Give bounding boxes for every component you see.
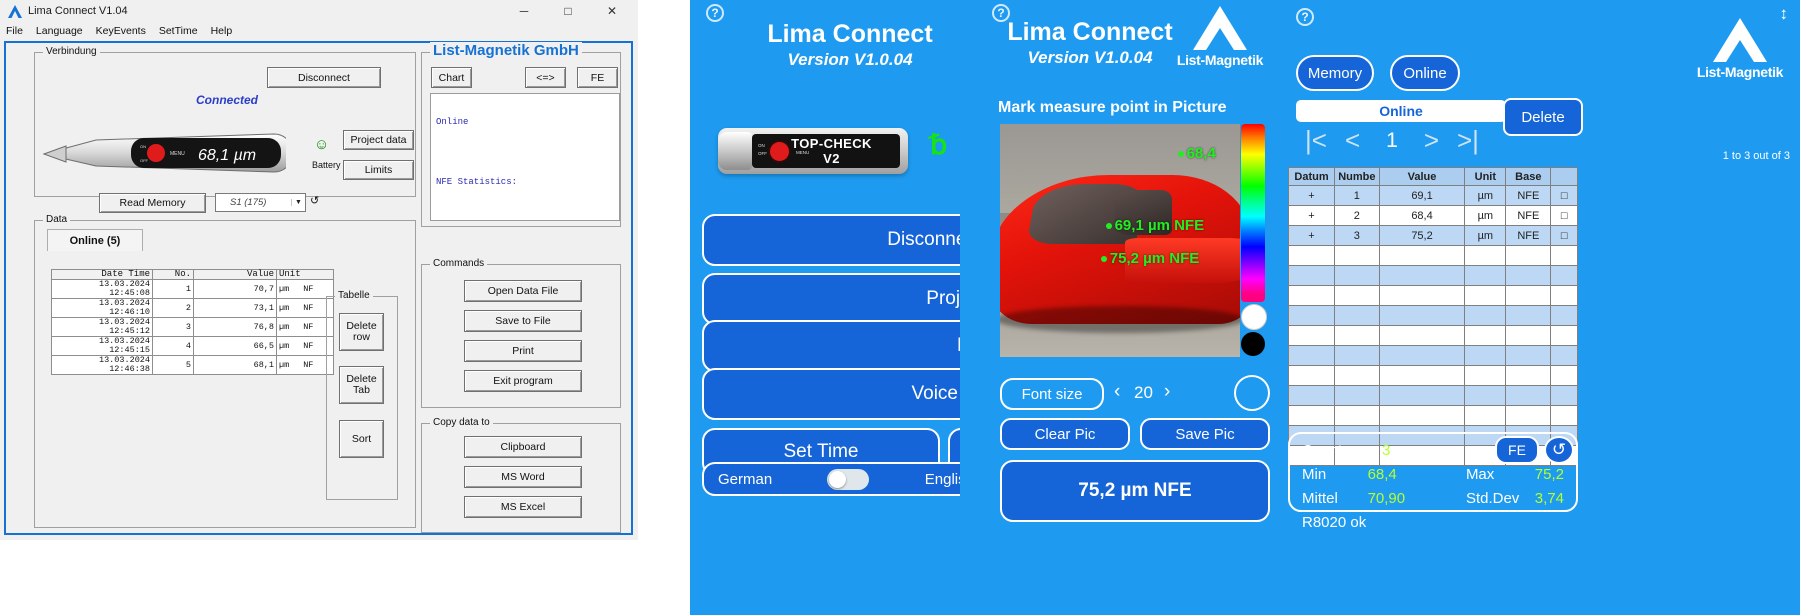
- save-to-file-button[interactable]: Save to File: [464, 310, 582, 332]
- open-data-file-button[interactable]: Open Data File: [464, 280, 582, 302]
- table-row[interactable]: 13.03.2024 12:46:38 5 68,1 µmNF: [52, 356, 334, 375]
- mark-dot-icon: [1178, 151, 1184, 157]
- swap-button[interactable]: <=>: [525, 67, 566, 88]
- chevron-down-icon: ▼: [291, 199, 305, 206]
- fe-button[interactable]: FE: [577, 67, 618, 88]
- std-label: Std.Dev: [1466, 490, 1535, 507]
- count-label: Count: [1302, 442, 1382, 459]
- table-row[interactable]: 13.03.2024 12:45:12 3 76,8 µmNF: [52, 318, 334, 337]
- max-label: Max: [1466, 466, 1535, 483]
- col-base: Base: [1506, 168, 1551, 186]
- device-status: R8020 ok: [1302, 514, 1564, 531]
- cell-value: 76,8: [194, 318, 277, 337]
- menu-keyevents[interactable]: KeyEvents: [96, 25, 146, 37]
- cell-base: NFE: [1506, 186, 1551, 206]
- cell-datum: +: [1289, 186, 1335, 206]
- cell-datum: +: [1289, 226, 1335, 246]
- mean-value: 70,90: [1368, 490, 1466, 507]
- clipboard-button[interactable]: Clipboard: [464, 436, 582, 458]
- table-row-empty[interactable]: [1289, 346, 1578, 366]
- table-row[interactable]: + 1 69,1 µm NFE □: [1289, 186, 1578, 206]
- stats-mode: Online: [436, 117, 614, 127]
- refresh-memory-icon[interactable]: ↺: [310, 194, 319, 207]
- min-value: 68,4: [1368, 466, 1466, 483]
- table-row[interactable]: 13.03.2024 12:46:10 2 73,1 µmNF: [52, 299, 334, 318]
- refresh-icon[interactable]: ↺: [1544, 436, 1574, 464]
- cell-unit: µmNF: [277, 318, 334, 337]
- window-controls: ─ □ ✕: [502, 0, 634, 22]
- data-group-legend: Data: [43, 214, 70, 225]
- read-memory-button[interactable]: Read Memory: [99, 193, 206, 213]
- col-unit: Unit: [277, 270, 334, 280]
- measurement-table-body: 13.03.2024 12:45:08 1 70,7 µmNF 13.03.20…: [52, 280, 334, 375]
- lang-german-label: German: [718, 471, 772, 488]
- font-size-value: 20: [1134, 383, 1153, 403]
- svg-text:MENU: MENU: [170, 151, 185, 157]
- window-titlebar: Lima Connect V1.04 ─ □ ✕: [0, 0, 638, 22]
- measurement-table: Date Time No. Value Unit 13.03.2024 12:4…: [51, 269, 334, 375]
- brand-logo: List-Magnetik: [1680, 18, 1800, 80]
- cell-base: NFE: [1506, 226, 1551, 246]
- cell-unit: µmNF: [277, 299, 334, 318]
- mark-dot-icon: [1101, 256, 1107, 262]
- color-preview-circle[interactable]: [1234, 375, 1270, 411]
- photo-mark: 69,1 µm NFE: [1106, 217, 1205, 234]
- cell-base: NFE: [1506, 206, 1551, 226]
- cell-datetime: 13.03.2024 12:46:10: [52, 299, 153, 318]
- menu-language[interactable]: Language: [36, 25, 83, 37]
- device-menu-label: MENU: [796, 150, 809, 155]
- section-title: Mark measure point in Picture: [998, 99, 1227, 117]
- commands-group-legend: Commands: [430, 258, 487, 269]
- col-value: Value: [194, 270, 277, 280]
- tab-online[interactable]: Online (5): [47, 229, 143, 251]
- table-row-empty[interactable]: [1289, 246, 1578, 266]
- company-group-legend: List-Magnetik GmbH: [430, 42, 582, 59]
- brand-logo: List-Magnetik: [1155, 6, 1285, 68]
- range-label: 1 to 3 out of 3: [1723, 150, 1790, 162]
- col-value: Value: [1379, 168, 1465, 186]
- close-button[interactable]: ✕: [590, 0, 634, 22]
- menu-help[interactable]: Help: [211, 25, 233, 37]
- table-row[interactable]: 13.03.2024 12:45:15 4 66,5 µmNF: [52, 337, 334, 356]
- clear-pic-button[interactable]: Clear Pic: [1000, 418, 1130, 450]
- connection-status: Connected: [196, 93, 258, 107]
- max-value: 75,2: [1535, 466, 1564, 483]
- table-row-empty[interactable]: [1289, 266, 1578, 286]
- cell-flag[interactable]: □: [1551, 206, 1578, 226]
- mode-bar-online: Online: [1296, 100, 1506, 122]
- mean-label: Mittel: [1302, 490, 1368, 507]
- chart-button[interactable]: Chart: [431, 67, 472, 88]
- menubar: File Language KeyEvents SetTime Help: [0, 22, 638, 39]
- cell-no: 1: [153, 280, 194, 299]
- connection-group-legend: Verbindung: [43, 46, 100, 57]
- exit-program-button[interactable]: Exit program: [464, 370, 582, 392]
- probe-illustration: ON OFF MENU 68,1 µm: [36, 120, 286, 180]
- ms-word-button[interactable]: MS Word: [464, 466, 582, 488]
- table-header-row: Datum Numbe Value Unit Base: [1289, 168, 1578, 186]
- cell-number: 2: [1335, 206, 1380, 226]
- stats-title: NFE Statistics:: [436, 177, 614, 187]
- brand-name: List-Magnetik: [1680, 64, 1800, 80]
- photo-mark: 68,4: [1178, 145, 1216, 162]
- cell-value: 68,1: [194, 356, 277, 375]
- cell-value: 73,1: [194, 299, 277, 318]
- device-cap: [718, 132, 752, 170]
- cell-value: 66,5: [194, 337, 277, 356]
- cell-flag[interactable]: □: [1551, 226, 1578, 246]
- svg-text:OFF: OFF: [140, 158, 149, 163]
- help-icon[interactable]: ?: [1296, 8, 1314, 26]
- chevron-left-icon[interactable]: ‹: [1114, 381, 1120, 403]
- col-datum: Datum: [1289, 168, 1335, 186]
- col-flag: [1551, 168, 1578, 186]
- cell-no: 3: [153, 318, 194, 337]
- delete-button[interactable]: Delete: [1503, 98, 1583, 136]
- fe-button[interactable]: FE: [1495, 436, 1539, 464]
- cell-value: 75,2: [1379, 226, 1465, 246]
- prev-page-icon[interactable]: <: [1345, 125, 1360, 156]
- current-reading-display: 75,2 µm NFE: [1000, 460, 1270, 522]
- memory-select[interactable]: S1 (175) ▼: [215, 193, 306, 212]
- first-page-icon[interactable]: |<: [1305, 125, 1327, 156]
- language-switch[interactable]: [827, 469, 869, 490]
- cell-datetime: 13.03.2024 12:46:38: [52, 356, 153, 375]
- cell-datetime: 13.03.2024 12:45:08: [52, 280, 153, 299]
- cell-datum: +: [1289, 206, 1335, 226]
- count-value: 3: [1382, 442, 1390, 459]
- table-row[interactable]: + 2 68,4 µm NFE □: [1289, 206, 1578, 226]
- maximize-button[interactable]: □: [546, 0, 590, 22]
- table-row-empty[interactable]: [1289, 386, 1578, 406]
- menu-file[interactable]: File: [6, 25, 23, 37]
- menu-settime[interactable]: SetTime: [159, 25, 198, 37]
- cell-value: 69,1: [1379, 186, 1465, 206]
- battery-label: Battery: [312, 160, 341, 170]
- chevron-right-icon[interactable]: ›: [1164, 381, 1170, 403]
- last-page-icon[interactable]: >|: [1457, 125, 1479, 156]
- cell-flag[interactable]: □: [1551, 186, 1578, 206]
- cell-number: 3: [1335, 226, 1380, 246]
- col-no: No.: [153, 270, 194, 280]
- device-onoff-label: ONOFF: [758, 142, 767, 158]
- cell-value: 68,4: [1379, 206, 1465, 226]
- measurement-photo[interactable]: 69,1 µm NFE 75,2 µm NFE 68,4: [1000, 124, 1240, 357]
- device-illustration: ONOFF MENU TOP-CHECK V2: [718, 128, 908, 174]
- cell-no: 5: [153, 356, 194, 375]
- table-row[interactable]: 13.03.2024 12:45:08 1 70,7 µmNF: [52, 280, 334, 299]
- app-logo-icon: [8, 5, 22, 18]
- limits-button[interactable]: Limits: [343, 160, 414, 180]
- copy-data-legend: Copy data to: [430, 417, 493, 428]
- mark-dot-icon: [1106, 223, 1112, 229]
- delete-row-button[interactable]: Delete row: [339, 313, 384, 351]
- app-version: Version V1.0.04: [710, 50, 990, 70]
- statistics-readout: Online NFE Statistics: Count 5 Minimum 6…: [430, 93, 620, 221]
- window-title: Lima Connect V1.04: [28, 5, 502, 17]
- disconnect-button[interactable]: Disconnect: [267, 67, 381, 88]
- min-label: Min: [1302, 466, 1368, 483]
- memory-select-value: S1 (175): [216, 197, 291, 208]
- window-client-area: Verbindung Disconnect Connected ON: [4, 41, 633, 535]
- delete-tab-button[interactable]: Delete Tab: [339, 366, 384, 404]
- svg-text:ON: ON: [140, 144, 146, 149]
- online-button[interactable]: Online: [1390, 55, 1460, 91]
- pagination-nav: |< < 1 > >|: [1296, 125, 1488, 156]
- cell-unit: µm: [1465, 226, 1506, 246]
- cell-unit: µm: [1465, 186, 1506, 206]
- triangle-logo-icon: [1193, 6, 1247, 50]
- language-toggle[interactable]: German English: [702, 462, 990, 496]
- color-swatch-white[interactable]: [1241, 304, 1267, 330]
- screenshot-root: Lima Connect V1.04 ─ □ ✕ File Language K…: [0, 0, 1800, 615]
- cell-value: 70,7: [194, 280, 277, 299]
- next-page-icon[interactable]: >: [1424, 125, 1439, 156]
- col-number: Numbe: [1335, 168, 1380, 186]
- cell-number: 1: [1335, 186, 1380, 206]
- mobile-app-right: ? ↕ List-Magnetik Memory Online Online D…: [1288, 0, 1800, 615]
- cell-unit: µmNF: [277, 356, 334, 375]
- cell-unit: µmNF: [277, 280, 334, 299]
- photo-mark: 75,2 µm NFE: [1101, 250, 1200, 267]
- table-row-empty[interactable]: [1289, 366, 1578, 386]
- cell-datetime: 13.03.2024 12:45:15: [52, 337, 153, 356]
- current-page: 1: [1386, 129, 1398, 153]
- cell-unit: µmNF: [277, 337, 334, 356]
- project-data-button[interactable]: Project data: [343, 130, 414, 150]
- table-row-empty[interactable]: [1289, 306, 1578, 326]
- cell-no: 2: [153, 299, 194, 318]
- readings-table-body: + 1 69,1 µm NFE □ + 2 68,4 µm NFE □ +: [1289, 186, 1578, 466]
- print-button[interactable]: Print: [464, 340, 582, 362]
- bluetooth-icon: ␢: [930, 132, 947, 159]
- table-row-empty[interactable]: [1289, 326, 1578, 346]
- col-datetime: Date Time: [52, 270, 153, 280]
- cell-datetime: 13.03.2024 12:45:12: [52, 318, 153, 337]
- table-row-empty[interactable]: [1289, 406, 1578, 426]
- color-picker-bar[interactable]: [1241, 124, 1265, 302]
- std-value: 3,74: [1535, 490, 1564, 507]
- sort-button[interactable]: Sort: [339, 420, 384, 458]
- ms-excel-button[interactable]: MS Excel: [464, 496, 582, 518]
- table-actions-legend: Tabelle: [335, 290, 373, 301]
- cell-no: 4: [153, 337, 194, 356]
- device-display: ONOFF MENU TOP-CHECK V2: [752, 134, 900, 168]
- color-swatch-black[interactable]: [1241, 332, 1265, 356]
- save-pic-button[interactable]: Save Pic: [1140, 418, 1270, 450]
- svg-text:68,1 µm: 68,1 µm: [198, 147, 256, 164]
- mobile-app-mid: ? Lima Connect Version V1.0.04 List-Magn…: [960, 0, 1290, 615]
- cell-unit: µm: [1465, 206, 1506, 226]
- status-smiley-icon: ☺: [314, 136, 329, 153]
- minimize-button[interactable]: ─: [502, 0, 546, 22]
- col-unit: Unit: [1465, 168, 1506, 186]
- desktop-window: Lima Connect V1.04 ─ □ ✕ File Language K…: [0, 0, 638, 540]
- font-size-button[interactable]: Font size: [1000, 378, 1104, 410]
- device-red-button-icon: [770, 142, 789, 161]
- memory-button[interactable]: Memory: [1296, 55, 1374, 91]
- table-header-row: Date Time No. Value Unit: [52, 270, 334, 280]
- triangle-logo-icon: [1713, 18, 1767, 62]
- app-title: Lima Connect: [710, 20, 990, 49]
- car-shadow: [1000, 306, 1240, 333]
- brand-name: List-Magnetik: [1155, 52, 1285, 68]
- readings-table: Datum Numbe Value Unit Base + 1 69,1 µm …: [1288, 167, 1578, 466]
- table-row-empty[interactable]: [1289, 286, 1578, 306]
- table-row[interactable]: + 3 75,2 µm NFE □: [1289, 226, 1578, 246]
